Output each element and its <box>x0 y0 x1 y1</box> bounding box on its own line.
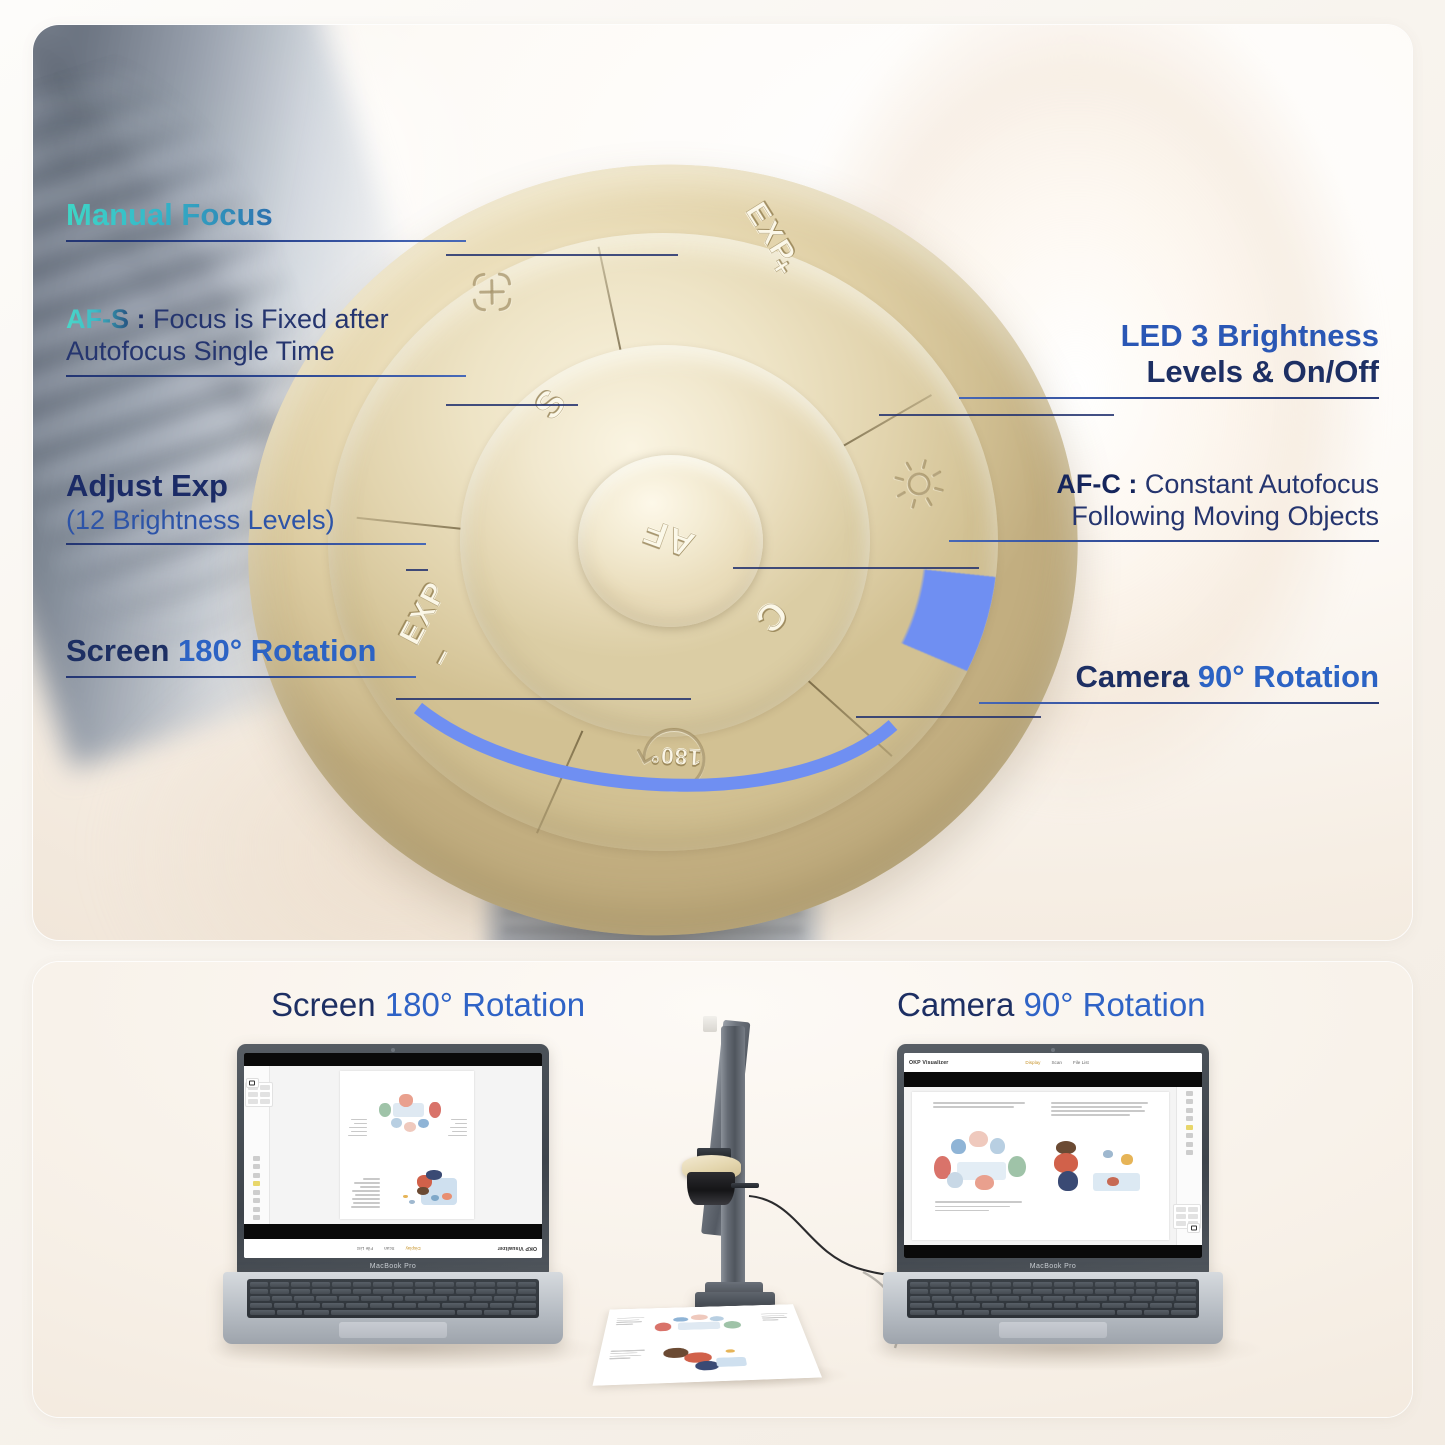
scanned-page <box>340 1071 474 1219</box>
laptop-left-lid: OKP Visualizer Display Scan File List <box>237 1044 549 1274</box>
tool-icon[interactable] <box>253 1156 260 1161</box>
af-s-line1-rest: Focus is Fixed after <box>145 304 388 334</box>
bottom-heading-left-a: Screen <box>271 986 385 1023</box>
scanned-page <box>912 1092 1168 1240</box>
menu-item-file-list[interactable]: File List <box>1073 1060 1089 1065</box>
menu-item-file-list[interactable]: File List <box>357 1246 373 1251</box>
led-brightness-line1: LED 3 Brightness <box>959 318 1379 354</box>
af-s-lead: AF-S : <box>66 304 145 334</box>
tool-icon-highlight[interactable] <box>253 1181 260 1186</box>
camera-rotation-title: Camera 90° Rotation <box>979 659 1379 695</box>
sheet-text-left <box>616 1317 644 1325</box>
feature-dial-card: EXP + EXP <box>33 25 1412 940</box>
laptop-right-base <box>883 1272 1223 1344</box>
callout-led-brightness: LED 3 Brightness Levels & On/Off <box>959 318 1379 399</box>
tool-grid-cell[interactable] <box>1176 1221 1186 1226</box>
keyboard-row <box>910 1282 1196 1287</box>
app-toolbar-right: OKP Visualizer Display Scan File List <box>904 1053 1202 1072</box>
keyboard-row-space <box>910 1310 1196 1315</box>
scanner-arm-lock[interactable] <box>731 1183 759 1188</box>
tool-icon-highlight[interactable] <box>1186 1125 1193 1130</box>
laptop-left-keyboard[interactable] <box>247 1279 539 1318</box>
manual-focus-title: Manual Focus <box>66 197 466 233</box>
laptop-right-trackpad[interactable] <box>999 1322 1108 1338</box>
sheet-text-bottom <box>609 1350 645 1360</box>
led-brightness-line2: Levels & On/Off <box>959 354 1379 390</box>
tool-grid-cell[interactable] <box>260 1085 270 1090</box>
screen-rotation-title: Screen 180° Rotation <box>66 633 416 669</box>
leader-camera-rotation <box>856 716 1041 718</box>
callout-rule <box>66 676 416 678</box>
laptop-left-screen[interactable]: OKP Visualizer Display Scan File List <box>244 1053 542 1258</box>
tool-icon[interactable] <box>253 1190 260 1195</box>
tool-grid-cell[interactable] <box>1176 1207 1186 1212</box>
tool-grid-cell[interactable] <box>1188 1214 1198 1219</box>
tool-icon[interactable] <box>253 1198 260 1203</box>
app-black-bar-top <box>244 1224 542 1238</box>
adjust-exp-title: Adjust Exp <box>66 468 426 504</box>
app-name-label: OKP Visualizer <box>497 1245 537 1251</box>
laptop-right-keyboard[interactable] <box>907 1279 1199 1318</box>
screen-rotation-title-a: Screen <box>66 633 178 668</box>
printed-document-sheet <box>593 1304 822 1386</box>
bottom-heading-right-a: Camera <box>897 986 1024 1023</box>
callout-af-s: AF-S : Focus is Fixed after Autofocus Si… <box>66 303 466 377</box>
scanner-lens <box>687 1172 735 1205</box>
tool-grid-cell[interactable] <box>248 1092 258 1097</box>
camera-rotation-title-a: Camera <box>1075 659 1197 694</box>
keyboard-row <box>250 1282 536 1287</box>
tool-icon[interactable] <box>1186 1133 1193 1138</box>
sheet-illustration-top <box>648 1312 753 1338</box>
app-black-bar-top <box>904 1072 1202 1086</box>
adjust-exp-sub: (12 Brightness Levels) <box>66 504 426 536</box>
af-s-line1: AF-S : Focus is Fixed after <box>66 303 466 335</box>
leader-af-c <box>733 567 979 569</box>
callout-screen-rotation: Screen 180° Rotation <box>66 633 416 678</box>
callout-manual-focus: Manual Focus <box>66 197 466 242</box>
rotate-180-label: 180° <box>649 742 702 772</box>
callout-rule <box>66 375 466 377</box>
callout-af-c: AF-C : Constant Autofocus Following Movi… <box>949 468 1379 542</box>
leader-led-brightness <box>879 414 1114 416</box>
af-s-line2: Autofocus Single Time <box>66 335 466 367</box>
tool-icon[interactable] <box>253 1173 260 1178</box>
app-canvas-right[interactable] <box>904 1087 1177 1245</box>
document-scanner-stand <box>645 1000 855 1330</box>
keyboard-row <box>250 1303 536 1308</box>
illustration-children-around-book <box>930 1124 1033 1192</box>
page-text-column <box>351 1160 380 1207</box>
af-c-line1-rest: Constant Autofocus <box>1137 469 1379 499</box>
tool-grid-cell[interactable] <box>260 1099 270 1104</box>
keyboard-row <box>910 1289 1196 1294</box>
page-text-column <box>348 1095 367 1137</box>
menu-item-display[interactable]: Display <box>406 1246 421 1251</box>
doc-paragraph-3 <box>935 1201 1022 1211</box>
laptop-right-lid: OKP Visualizer Display Scan File List <box>897 1044 1209 1274</box>
webcam-icon <box>391 1048 395 1052</box>
rotate-180-text: 180° <box>649 743 702 772</box>
app-black-bar-bottom <box>904 1245 1202 1258</box>
capture-button[interactable] <box>1187 1223 1200 1233</box>
menu-item-scan[interactable]: Scan <box>384 1246 394 1251</box>
app-tool-rail-left[interactable] <box>244 1066 270 1224</box>
doc-paragraph-2 <box>1051 1102 1148 1116</box>
app-tool-rail-right[interactable] <box>1176 1087 1202 1245</box>
space-key[interactable] <box>331 1310 456 1315</box>
leader-adjust-exp <box>406 569 428 571</box>
bottom-heading-right-b: 90° Rotation <box>1024 986 1206 1023</box>
af-c-line2: Following Moving Objects <box>949 500 1379 532</box>
illustration-boy-painting <box>387 1165 462 1210</box>
app-toolbar-left: OKP Visualizer Display Scan File List <box>244 1239 542 1258</box>
callout-rule <box>979 702 1379 704</box>
keyboard-row <box>250 1296 536 1301</box>
laptop-left-trackpad[interactable] <box>339 1322 448 1338</box>
leader-manual-focus <box>446 254 678 256</box>
menu-item-display[interactable]: Display <box>1025 1060 1040 1065</box>
tool-icon[interactable] <box>253 1207 260 1212</box>
laptop-right-screen[interactable]: OKP Visualizer Display Scan File List <box>904 1053 1202 1258</box>
tool-icon[interactable] <box>1186 1142 1193 1147</box>
bottom-heading-left-b: 180° Rotation <box>385 986 585 1023</box>
menu-item-scan[interactable]: Scan <box>1051 1060 1061 1065</box>
callout-adjust-exp: Adjust Exp (12 Brightness Levels) <box>66 468 426 545</box>
screen-rotation-title-b: 180° Rotation <box>178 633 376 668</box>
callout-rule <box>959 397 1379 399</box>
callout-camera-rotation: Camera 90° Rotation <box>979 659 1379 704</box>
leader-screen-rotation <box>396 698 691 700</box>
keyboard-row <box>910 1303 1196 1308</box>
keyboard-row <box>910 1296 1196 1301</box>
app-menu-left[interactable]: Display Scan File List <box>357 1246 420 1251</box>
tool-icon[interactable] <box>253 1164 260 1169</box>
sheet-illustration-bottom <box>654 1342 757 1375</box>
app-canvas-left[interactable] <box>269 1066 542 1224</box>
callout-rule <box>949 540 1379 542</box>
app-name-label: OKP Visualizer <box>909 1060 949 1066</box>
rotation-demo-card: Screen 180° Rotation Camera 90° Rotation… <box>33 962 1412 1417</box>
scanner-top-tab <box>703 1016 717 1032</box>
laptop-right: OKP Visualizer Display Scan File List <box>883 1044 1223 1344</box>
capture-button[interactable] <box>246 1078 259 1088</box>
doc-paragraph-1 <box>933 1102 1025 1108</box>
bottom-heading-camera-rotation: Camera 90° Rotation <box>897 986 1206 1024</box>
laptop-left-base <box>223 1272 563 1344</box>
tool-grid-cell[interactable] <box>248 1099 258 1104</box>
af-c-line1: AF-C : Constant Autofocus <box>949 468 1379 500</box>
tool-icon[interactable] <box>1186 1099 1193 1104</box>
sheet-text-right <box>761 1313 790 1321</box>
keyboard-row <box>250 1289 536 1294</box>
af-c-lead: AF-C : <box>1056 469 1137 499</box>
tool-icon[interactable] <box>253 1215 260 1220</box>
page-text-column <box>448 1095 467 1137</box>
tool-icon[interactable] <box>1186 1108 1193 1113</box>
app-black-bar-bottom <box>244 1053 542 1066</box>
keyboard-row-space <box>250 1310 536 1315</box>
tool-icon[interactable] <box>1186 1116 1193 1121</box>
leader-af-s <box>446 404 578 406</box>
infographic-page: EXP + EXP <box>0 0 1445 1445</box>
control-dial[interactable]: EXP + EXP <box>238 155 1088 940</box>
tool-grid-cell[interactable] <box>1188 1207 1198 1212</box>
illustration-boy-with-brush <box>1045 1136 1148 1201</box>
tool-grid-cell[interactable] <box>260 1092 270 1097</box>
callout-rule <box>66 240 466 242</box>
bottom-heading-screen-rotation: Screen 180° Rotation <box>271 986 585 1024</box>
space-key[interactable] <box>991 1310 1116 1315</box>
app-menu-right[interactable]: Display Scan File List <box>1025 1060 1088 1065</box>
tool-icon[interactable] <box>1186 1150 1193 1155</box>
laptop-left: OKP Visualizer Display Scan File List <box>223 1044 563 1344</box>
tool-icon[interactable] <box>1186 1091 1193 1096</box>
illustration-children-book <box>370 1090 447 1137</box>
tool-grid-cell[interactable] <box>1176 1214 1186 1219</box>
camera-rotation-title-b: 90° Rotation <box>1198 659 1379 694</box>
callout-rule <box>66 543 426 545</box>
webcam-icon <box>1051 1048 1055 1052</box>
